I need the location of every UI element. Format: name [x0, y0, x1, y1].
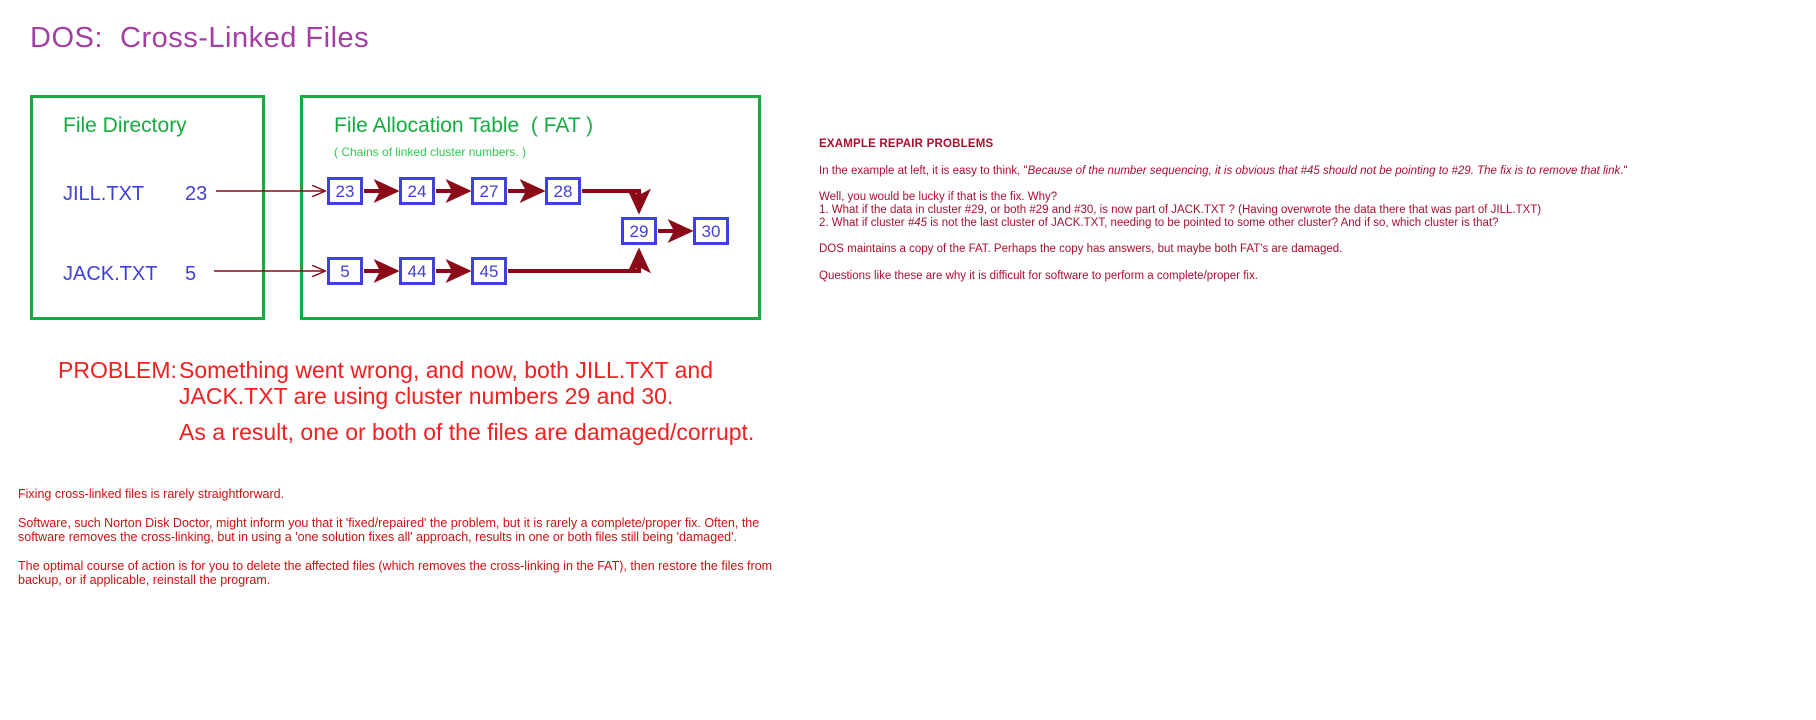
repair-problems-column: EXAMPLE REPAIR PROBLEMS In the example a… [819, 138, 1809, 283]
file-directory-panel: File Directory JILL.TXT 23 JACK.TXT 5 [30, 95, 265, 320]
problem-line-2: JACK.TXT are using cluster numbers 29 an… [179, 384, 673, 409]
repair-intro-quote: Because of the number sequencing, it is … [1028, 165, 1621, 177]
directory-start-cluster: 23 [185, 183, 207, 206]
fat-subheading: ( Chains of linked cluster numbers. ) [334, 145, 526, 159]
cluster-box-28: 28 [545, 177, 581, 205]
note-paragraph-3: The optimal course of action is for you … [18, 559, 808, 587]
cluster-box-30: 30 [693, 217, 729, 245]
directory-filename: JILL.TXT [63, 183, 144, 206]
file-directory-heading: File Directory [63, 114, 187, 138]
directory-filename: JACK.TXT [63, 263, 157, 286]
repair-q2-emphasis: #45 [908, 217, 927, 229]
directory-start-cluster: 5 [185, 263, 196, 286]
repair-why: Well, you would be lucky if that is the … [819, 191, 1057, 203]
problem-label: PROBLEM: [58, 358, 177, 383]
cluster-box-5: 5 [327, 257, 363, 285]
repair-heading: EXAMPLE REPAIR PROBLEMS [819, 138, 1809, 152]
note-paragraph-2: Software, such Norton Disk Doctor, might… [18, 516, 808, 544]
page-title: DOS: Cross-Linked Files [30, 22, 369, 55]
repair-intro-suffix: ." [1620, 165, 1627, 177]
fat-panel: File Allocation Table ( FAT ) ( Chains o… [300, 95, 761, 320]
cluster-box-29: 29 [621, 217, 657, 245]
cluster-box-44: 44 [399, 257, 435, 285]
cluster-box-27: 27 [471, 177, 507, 205]
repair-questions: Well, you would be lucky if that is the … [819, 191, 1809, 230]
repair-question-2: 2. What if cluster #45 is not the last c… [819, 217, 1499, 229]
repair-fat-copy: DOS maintains a copy of the FAT. Perhaps… [819, 243, 1809, 257]
cluster-box-23: 23 [327, 177, 363, 205]
repair-intro-prefix: In the example at left, it is easy to th… [819, 165, 1028, 177]
note-paragraph-1: Fixing cross-linked files is rarely stra… [18, 487, 808, 501]
repair-closing: Questions like these are why it is diffi… [819, 270, 1809, 284]
repair-q2-suffix: is not the last cluster of JACK.TXT, nee… [927, 217, 1498, 229]
repair-intro: In the example at left, it is easy to th… [819, 165, 1809, 179]
problem-block: PROBLEM: Something went wrong, and now, … [58, 358, 71, 483]
problem-line-1: Something went wrong, and now, both JILL… [179, 358, 713, 383]
repair-q2-prefix: 2. What if cluster [819, 217, 908, 229]
cluster-box-45: 45 [471, 257, 507, 285]
bottom-notes: Fixing cross-linked files is rarely stra… [18, 487, 808, 587]
repair-question-1: 1. What if the data in cluster #29, or b… [819, 204, 1541, 216]
cluster-box-24: 24 [399, 177, 435, 205]
fat-heading: File Allocation Table ( FAT ) [334, 114, 593, 138]
problem-line-3: As a result, one or both of the files ar… [179, 420, 754, 445]
